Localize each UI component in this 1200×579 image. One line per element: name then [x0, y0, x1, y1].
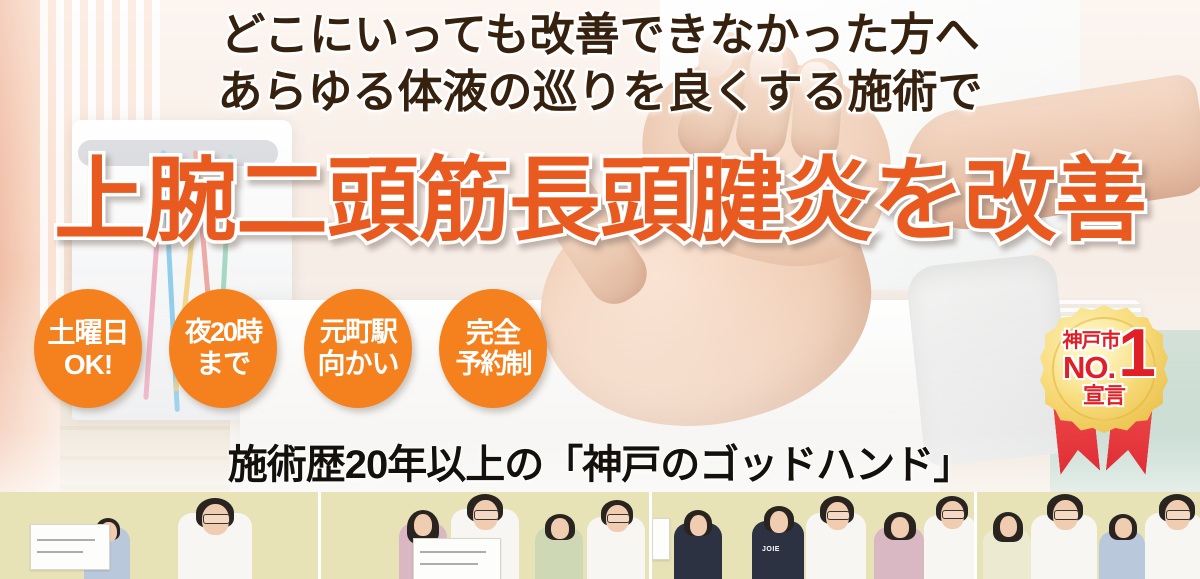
glasses-icon — [203, 514, 230, 524]
glasses-icon — [1054, 510, 1079, 520]
badge-location-line2: 向かい — [317, 348, 398, 380]
patient-face — [891, 517, 909, 538]
feature-badge-group: 土曜日 OK! 夜20時 まで 元町駅 向かい 完全 予約制 — [34, 289, 754, 409]
badge-saturday-line2: OK! — [64, 349, 112, 381]
lede-copy: どこにいっても改善できなかった方へ あらゆる体液の巡りを良くする施術で — [0, 8, 1200, 120]
badge-location-line1: 元町駅 — [320, 317, 397, 348]
whiteboard-text-line — [420, 551, 486, 553]
glasses-icon — [474, 510, 499, 520]
testimonial-panel-3[interactable]: JOIE — [652, 492, 974, 579]
lede-line-1: どこにいっても改善できなかった方へ — [0, 8, 1200, 63]
patient-face — [1000, 516, 1017, 537]
patient-face — [1115, 518, 1132, 538]
whiteboard-text-line — [420, 563, 478, 565]
badge-hours-line1: 夜20時 — [185, 317, 261, 348]
badge-saturday-ok[interactable]: 土曜日 OK! — [34, 289, 142, 408]
badge-saturday-line1: 土曜日 — [47, 317, 128, 349]
medal-disc: 神戸市 NO. 宣言 1 — [1040, 305, 1168, 433]
whiteboard-text-line — [37, 551, 83, 553]
glasses-icon — [827, 511, 850, 520]
patient-face — [690, 515, 707, 536]
patient-face — [770, 511, 788, 533]
badge-motomachi-station[interactable]: 元町駅 向かい — [304, 289, 412, 408]
medal-no-label: NO. — [1063, 352, 1115, 383]
medal-city-label: 神戸市 — [1063, 331, 1120, 351]
joie-shirt-label: JOIE — [762, 546, 780, 553]
testimonial-photo-strip: JOIE — [0, 492, 1200, 579]
badge-appointment-only[interactable]: 完全 予約制 — [439, 289, 547, 408]
testimonial-panel-1[interactable] — [0, 492, 318, 579]
testimonial-whiteboard — [652, 518, 670, 560]
whiteboard-text-line — [37, 539, 95, 541]
main-headline: 上腕二頭筋長頭腱炎を改善 — [0, 155, 1200, 247]
badge-reservation-line2: 予約制 — [456, 349, 531, 380]
badge-open-until-20[interactable]: 夜20時 まで — [169, 289, 277, 408]
badge-reservation-line1: 完全 — [466, 317, 520, 349]
glasses-icon — [942, 510, 965, 519]
testimonial-whiteboard — [413, 538, 501, 579]
lede-line-2: あらゆる体液の巡りを良くする施術で — [0, 65, 1200, 120]
testimonial-panel-4[interactable] — [977, 492, 1200, 579]
glasses-icon — [607, 514, 630, 523]
glasses-icon — [1166, 510, 1191, 520]
medal-rank-number: 1 — [1118, 319, 1156, 387]
testimonial-panel-2[interactable] — [321, 492, 649, 579]
patient-face — [414, 514, 432, 536]
patient-face — [551, 518, 569, 539]
badge-hours-line2: まで — [196, 348, 250, 380]
god-hand-tagline: 施術歴20年以上の「神戸のゴッドハンド」 — [0, 432, 1200, 490]
testimonial-whiteboard — [30, 524, 110, 570]
clinic-hero-banner: どこにいっても改善できなかった方へ あらゆる体液の巡りを良くする施術で 上腕二頭… — [0, 0, 1200, 579]
